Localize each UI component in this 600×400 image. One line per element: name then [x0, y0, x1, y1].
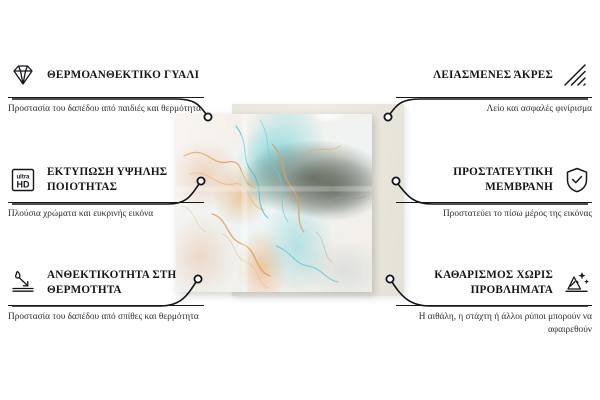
- ultra-hd-icon: ultra HD: [8, 165, 38, 195]
- feature-header: ultra HD ΕΚΤΥΠΩΣΗ ΥΨΗΛΗΣ ΠΟΙΟΤΗΤΑΣ: [8, 163, 204, 197]
- feature-description: Προστασία του δαπέδου από παιδιές και θε…: [8, 103, 204, 116]
- feature-easy-cleaning: ΚΑΘΑΡΙΣΜΟΣ ΧΩΡΙΣ ΠΡΟΒΛΗΜΑΤΑ Η αιθάλη, η …: [396, 266, 592, 338]
- feature-title: ΑΝΘΕΚΤΙΚΟΤΗΤΑ ΣΤΗ ΘΕΡΜΟΤΗΤΑ: [47, 268, 204, 298]
- feature-description: Προστασία του δαπέδου από σπίθες και θερ…: [8, 311, 204, 324]
- glass-product-panel: [176, 114, 372, 292]
- shield-check-icon: [562, 165, 592, 195]
- feature-header: ΘΕΡΜΟΑΝΘΕΚΤΙΚΟ ΓΥΑΛΙ: [8, 58, 204, 92]
- feature-description: Προστατεύει το πίσω μέρος της εικόνας: [396, 208, 592, 221]
- feature-divider: [396, 305, 592, 306]
- flame-deflect-icon: [8, 268, 38, 298]
- feature-divider: [396, 202, 592, 203]
- feature-divider: [8, 97, 204, 98]
- feature-description: Πλούσια χρώματα και ευκρινής εικόνα: [8, 208, 204, 221]
- diamond-icon: [8, 60, 38, 90]
- feature-header: ΑΝΘΕΚΤΙΚΟΤΗΤΑ ΣΤΗ ΘΕΡΜΟΤΗΤΑ: [8, 266, 204, 300]
- feature-title: ΛΕΙΑΣΜΕΝΕΣ ΆΚΡΕΣ: [433, 68, 553, 83]
- feature-header: ΚΑΘΑΡΙΣΜΟΣ ΧΩΡΙΣ ΠΡΟΒΛΗΜΑΤΑ: [396, 266, 592, 300]
- feature-divider: [8, 305, 204, 306]
- diagonal-stripes-icon: [562, 60, 592, 90]
- feature-title: ΠΡΟΣΤΑΤΕΥΤΙΚΗ ΜΕΜΒΡΑΝΗ: [396, 165, 553, 195]
- feature-heat-resistance: ΑΝΘΕΚΤΙΚΟΤΗΤΑ ΣΤΗ ΘΕΡΜΟΤΗΤΑ Προστασία το…: [8, 266, 204, 324]
- feature-title: ΘΕΡΜΟΑΝΘΕΚΤΙΚΟ ΓΥΑΛΙ: [47, 68, 199, 83]
- product-image-stage: [176, 104, 404, 296]
- feature-protective-film: ΠΡΟΣΤΑΤΕΥΤΙΚΗ ΜΕΜΒΡΑΝΗ Προστατεύει το πί…: [396, 163, 592, 221]
- feature-description: Η αιθάλη, η στάχτη ή άλλοι ρύποι μπορούν…: [396, 311, 592, 338]
- feature-description: Λείο και ασφαλές φινίρισμα: [396, 103, 592, 116]
- sparkle-wipe-icon: [562, 268, 592, 298]
- feature-title: ΕΚΤΥΠΩΣΗ ΥΨΗΛΗΣ ΠΟΙΟΤΗΤΑΣ: [47, 165, 204, 195]
- feature-header: ΠΡΟΣΤΑΤΕΥΤΙΚΗ ΜΕΜΒΡΑΝΗ: [396, 163, 592, 197]
- feature-divider: [8, 202, 204, 203]
- feature-header: ΛΕΙΑΣΜΕΝΕΣ ΆΚΡΕΣ: [396, 58, 592, 92]
- svg-text:HD: HD: [17, 180, 30, 190]
- feature-title: ΚΑΘΑΡΙΣΜΟΣ ΧΩΡΙΣ ΠΡΟΒΛΗΜΑΤΑ: [396, 268, 553, 298]
- feature-polished-edges: ΛΕΙΑΣΜΕΝΕΣ ΆΚΡΕΣ Λείο και ασφαλές φινίρι…: [396, 58, 592, 116]
- feature-hd-print: ultra HD ΕΚΤΥΠΩΣΗ ΥΨΗΛΗΣ ΠΟΙΟΤΗΤΑΣ Πλούσ…: [8, 163, 204, 221]
- ink-art-veins: [176, 114, 372, 292]
- feature-divider: [396, 97, 592, 98]
- feature-heatproof-glass: ΘΕΡΜΟΑΝΘΕΚΤΙΚΟ ΓΥΑΛΙ Προστασία του δαπέδ…: [8, 58, 204, 116]
